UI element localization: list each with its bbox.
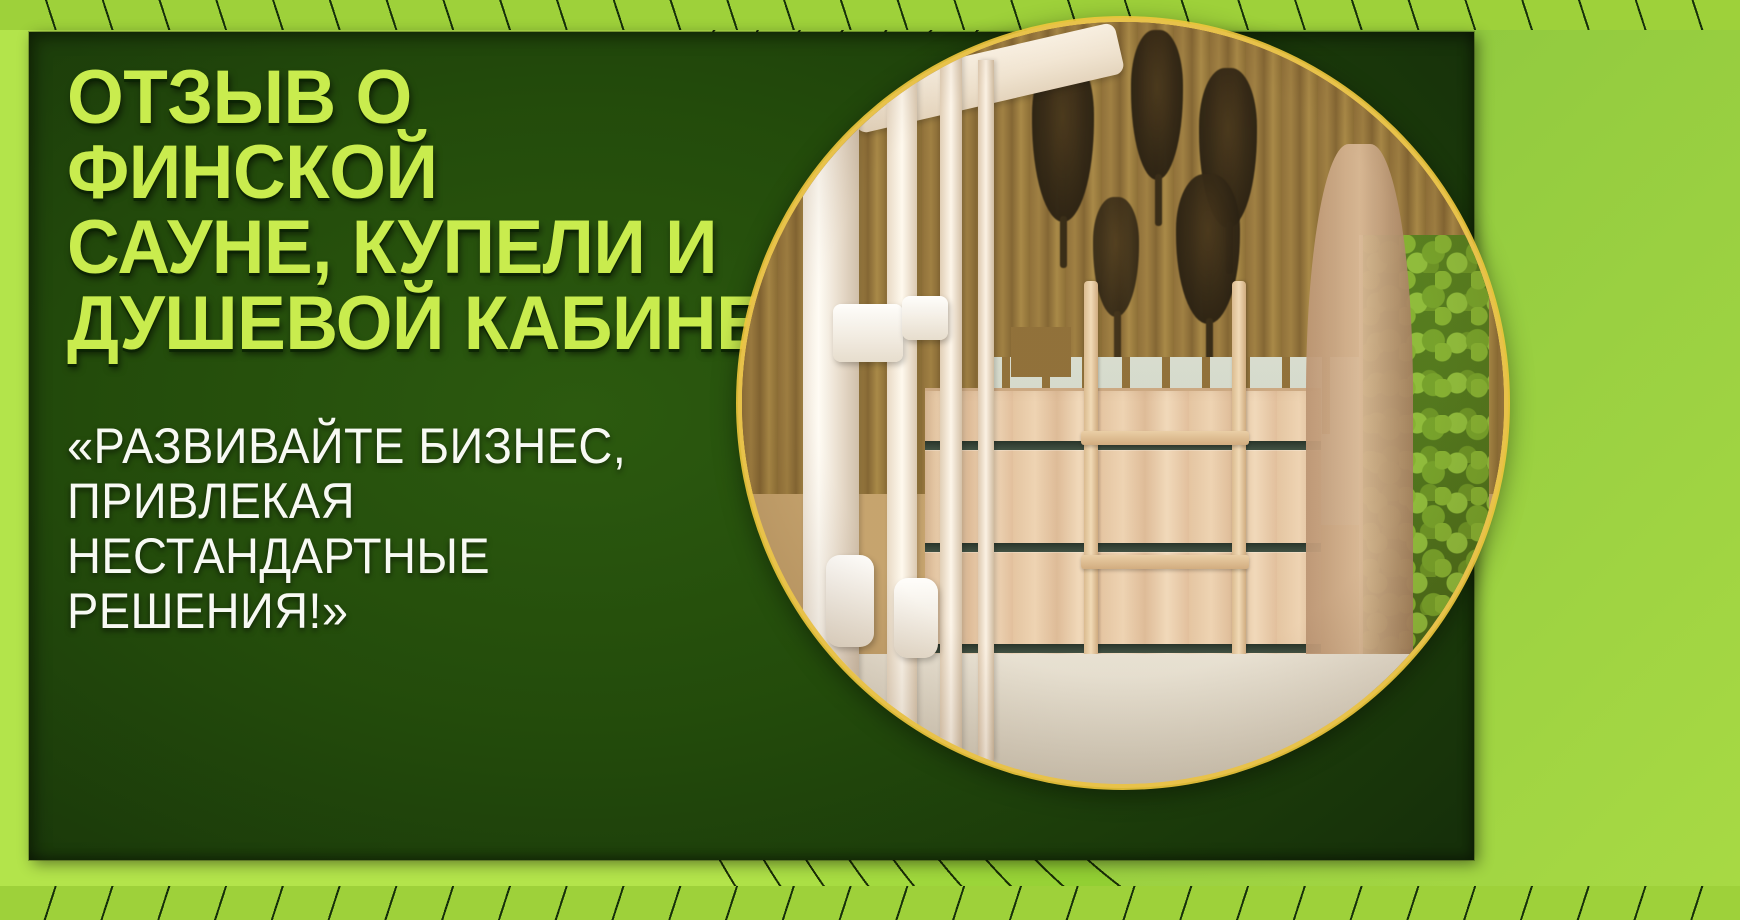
shower-cabin-column	[803, 37, 859, 769]
quote-line-3: НЕСТАНДАРТНЫЕ	[67, 529, 781, 584]
shower-fitting	[826, 555, 874, 647]
shower-cabin-column	[978, 60, 994, 761]
ladder-rung	[1081, 431, 1249, 445]
title-line-2: САУНЕ, КУПЕЛИ И	[67, 210, 797, 285]
banner-root: ОТЗЫВ О ФИНСКОЙ САУНЕ, КУПЕЛИ И ДУШЕВОЙ …	[0, 0, 1740, 920]
quote-block: «РАЗВИВАЙТЕ БИЗНЕС, ПРИВЛЕКАЯ НЕСТАНДАРТ…	[67, 419, 781, 639]
title-line-3: ДУШЕВОЙ КАБИНЕ	[67, 286, 797, 361]
bottom-diagonal-hatch-strip	[0, 886, 1740, 920]
shower-fitting	[894, 578, 938, 658]
shower-cabin-column	[940, 45, 962, 769]
title-line-1: ОТЗЫВ О ФИНСКОЙ	[67, 60, 797, 210]
circular-photo-frame	[738, 18, 1508, 788]
sauna-photo	[742, 22, 1504, 784]
quote-line-1: «РАЗВИВАЙТЕ БИЗНЕС,	[67, 419, 781, 474]
shower-cabin-column	[887, 22, 917, 776]
shower-fitting	[902, 296, 948, 340]
shower-fitting	[833, 304, 903, 362]
ladder-rung	[1081, 555, 1249, 569]
page-title: ОТЗЫВ О ФИНСКОЙ САУНЕ, КУПЕЛИ И ДУШЕВОЙ …	[67, 60, 797, 361]
sauna-scene	[742, 22, 1504, 784]
quote-line-2: ПРИВЛЕКАЯ	[67, 474, 781, 529]
quote-line-4: РЕШЕНИЯ!»	[67, 584, 781, 639]
text-column: ОТЗЫВ О ФИНСКОЙ САУНЕ, КУПЕЛИ И ДУШЕВОЙ …	[67, 60, 827, 639]
